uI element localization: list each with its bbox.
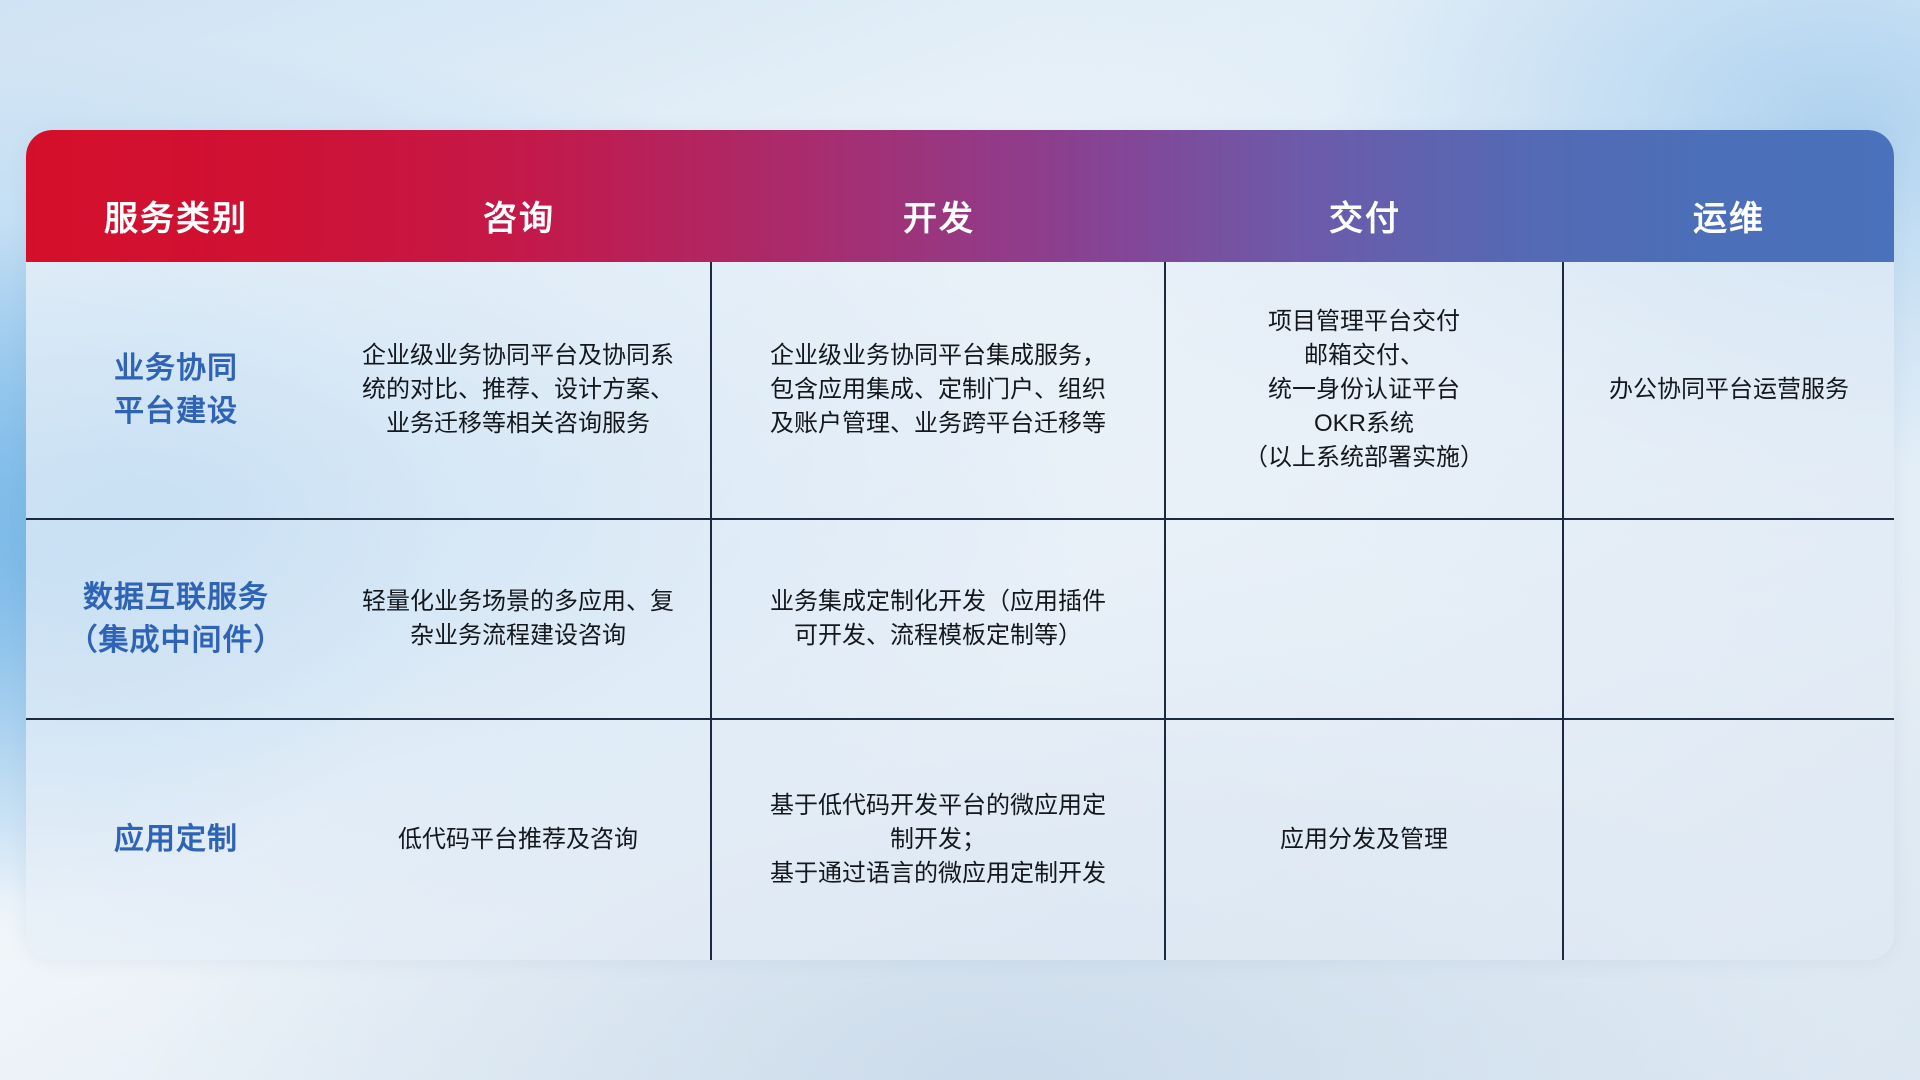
row-category-label: 应用定制: [26, 720, 326, 960]
table-header-cell-development: 开发: [712, 130, 1166, 262]
cell-consulting: 低代码平台推荐及咨询: [326, 720, 712, 960]
cell-delivery: 应用分发及管理: [1166, 720, 1564, 960]
cell-consulting: 轻量化业务场景的多应用、复 杂业务流程建设咨询: [326, 520, 712, 718]
table-row: 应用定制 低代码平台推荐及咨询 基于低代码开发平台的微应用定 制开发； 基于通过…: [26, 720, 1894, 960]
cell-development: 企业级业务协同平台集成服务， 包含应用集成、定制门户、组织 及账户管理、业务跨平…: [712, 262, 1166, 518]
table-header-cell-service-category: 服务类别: [26, 130, 326, 262]
table-header-cell-delivery: 交付: [1166, 130, 1564, 262]
row-category-label: 数据互联服务 （集成中间件）: [26, 520, 326, 718]
service-matrix-table: 服务类别 咨询 开发 交付 运维 业务协同 平台建设 企业级业务协同平台及协同系…: [26, 130, 1894, 960]
cell-consulting: 企业级业务协同平台及协同系 统的对比、推荐、设计方案、 业务迁移等相关咨询服务: [326, 262, 712, 518]
cell-development: 业务集成定制化开发（应用插件 可开发、流程模板定制等）: [712, 520, 1166, 718]
cell-operations: [1564, 720, 1894, 960]
cell-delivery: 项目管理平台交付 邮箱交付、 统一身份认证平台 OKR系统 （以上系统部署实施）: [1166, 262, 1564, 518]
table-header-row: 服务类别 咨询 开发 交付 运维: [26, 130, 1894, 262]
table-header-cell-consulting: 咨询: [326, 130, 712, 262]
cell-operations: [1564, 520, 1894, 718]
table-header-cell-operations: 运维: [1564, 130, 1894, 262]
table-row: 业务协同 平台建设 企业级业务协同平台及协同系 统的对比、推荐、设计方案、 业务…: [26, 262, 1894, 520]
row-category-label: 业务协同 平台建设: [26, 262, 326, 518]
table-row: 数据互联服务 （集成中间件） 轻量化业务场景的多应用、复 杂业务流程建设咨询 业…: [26, 520, 1894, 720]
slide-canvas: 服务类别 咨询 开发 交付 运维 业务协同 平台建设 企业级业务协同平台及协同系…: [0, 0, 1920, 1080]
cell-development: 基于低代码开发平台的微应用定 制开发； 基于通过语言的微应用定制开发: [712, 720, 1166, 960]
cell-delivery: [1166, 520, 1564, 718]
cell-operations: 办公协同平台运营服务: [1564, 262, 1894, 518]
table-body: 业务协同 平台建设 企业级业务协同平台及协同系 统的对比、推荐、设计方案、 业务…: [26, 262, 1894, 960]
